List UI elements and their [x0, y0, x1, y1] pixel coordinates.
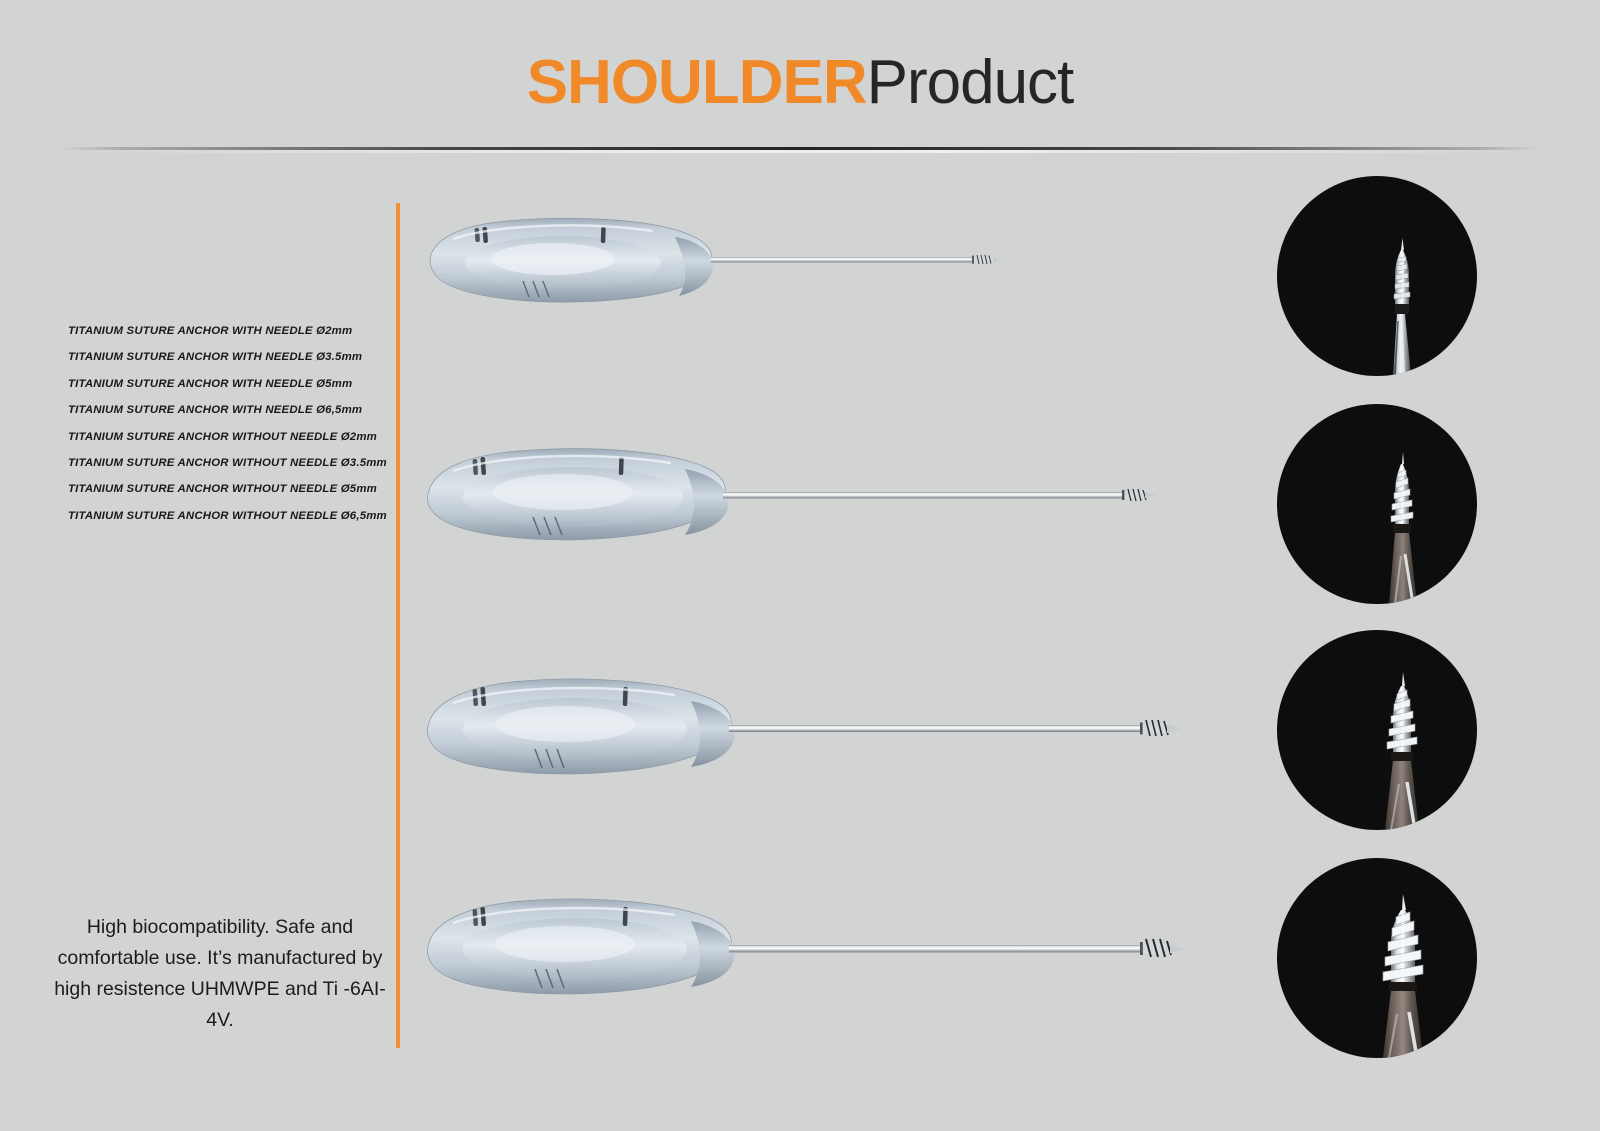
list-item: TITANIUM SUTURE ANCHOR WITHOUT NEEDLE Ø3… — [68, 450, 388, 476]
header-divider-highlight — [60, 150, 1540, 153]
list-item: TITANIUM SUTURE ANCHOR WITHOUT NEEDLE Ø2… — [68, 424, 388, 450]
title-brand: SHOULDER — [527, 48, 867, 117]
instrument-illustration — [423, 207, 1043, 317]
anchor-tip — [1140, 720, 1181, 736]
instrument-illustration — [423, 435, 1203, 553]
anchor-tip-detail-3-5mm — [1277, 404, 1477, 604]
list-item: TITANIUM SUTURE ANCHOR WITH NEEDLE Ø3.5m… — [68, 344, 388, 370]
list-item: TITANIUM SUTURE ANCHOR WITH NEEDLE Ø2mm — [68, 318, 388, 344]
product-catalog-page: SHOULDERProduct TITANIUM SUTURE ANCHOR W… — [0, 0, 1600, 1131]
orange-vertical-rule — [396, 203, 400, 1048]
product-image-suture-anchor-driver-5mm — [423, 665, 1233, 787]
anchor-tip — [1122, 489, 1157, 501]
page-title: SHOULDERProduct — [0, 48, 1600, 118]
list-item: TITANIUM SUTURE ANCHOR WITH NEEDLE Ø5mm — [68, 371, 388, 397]
anchor-tip — [1140, 939, 1185, 957]
product-image-suture-anchor-driver-6-5mm — [423, 885, 1233, 1009]
title-sub: Product — [867, 48, 1074, 117]
instrument-illustration — [423, 665, 1233, 787]
anchor-tip-detail-5mm — [1277, 630, 1477, 830]
anchor-tip-detail-6-5mm — [1277, 858, 1477, 1058]
anchor-tip-detail-2mm — [1277, 176, 1477, 376]
list-item: TITANIUM SUTURE ANCHOR WITHOUT NEEDLE Ø6… — [68, 503, 388, 529]
product-image-suture-anchor-driver-3-5mm — [423, 435, 1203, 553]
instrument-illustration — [423, 885, 1233, 1009]
list-item: TITANIUM SUTURE ANCHOR WITH NEEDLE Ø6,5m… — [68, 397, 388, 423]
anchor-tip — [972, 255, 1001, 264]
spec-list: TITANIUM SUTURE ANCHOR WITH NEEDLE Ø2mm … — [68, 318, 388, 529]
product-image-suture-anchor-driver-2mm — [423, 207, 1043, 317]
description-text: High biocompatibility. Safe and comforta… — [52, 912, 388, 1036]
list-item: TITANIUM SUTURE ANCHOR WITHOUT NEEDLE Ø5… — [68, 476, 388, 502]
